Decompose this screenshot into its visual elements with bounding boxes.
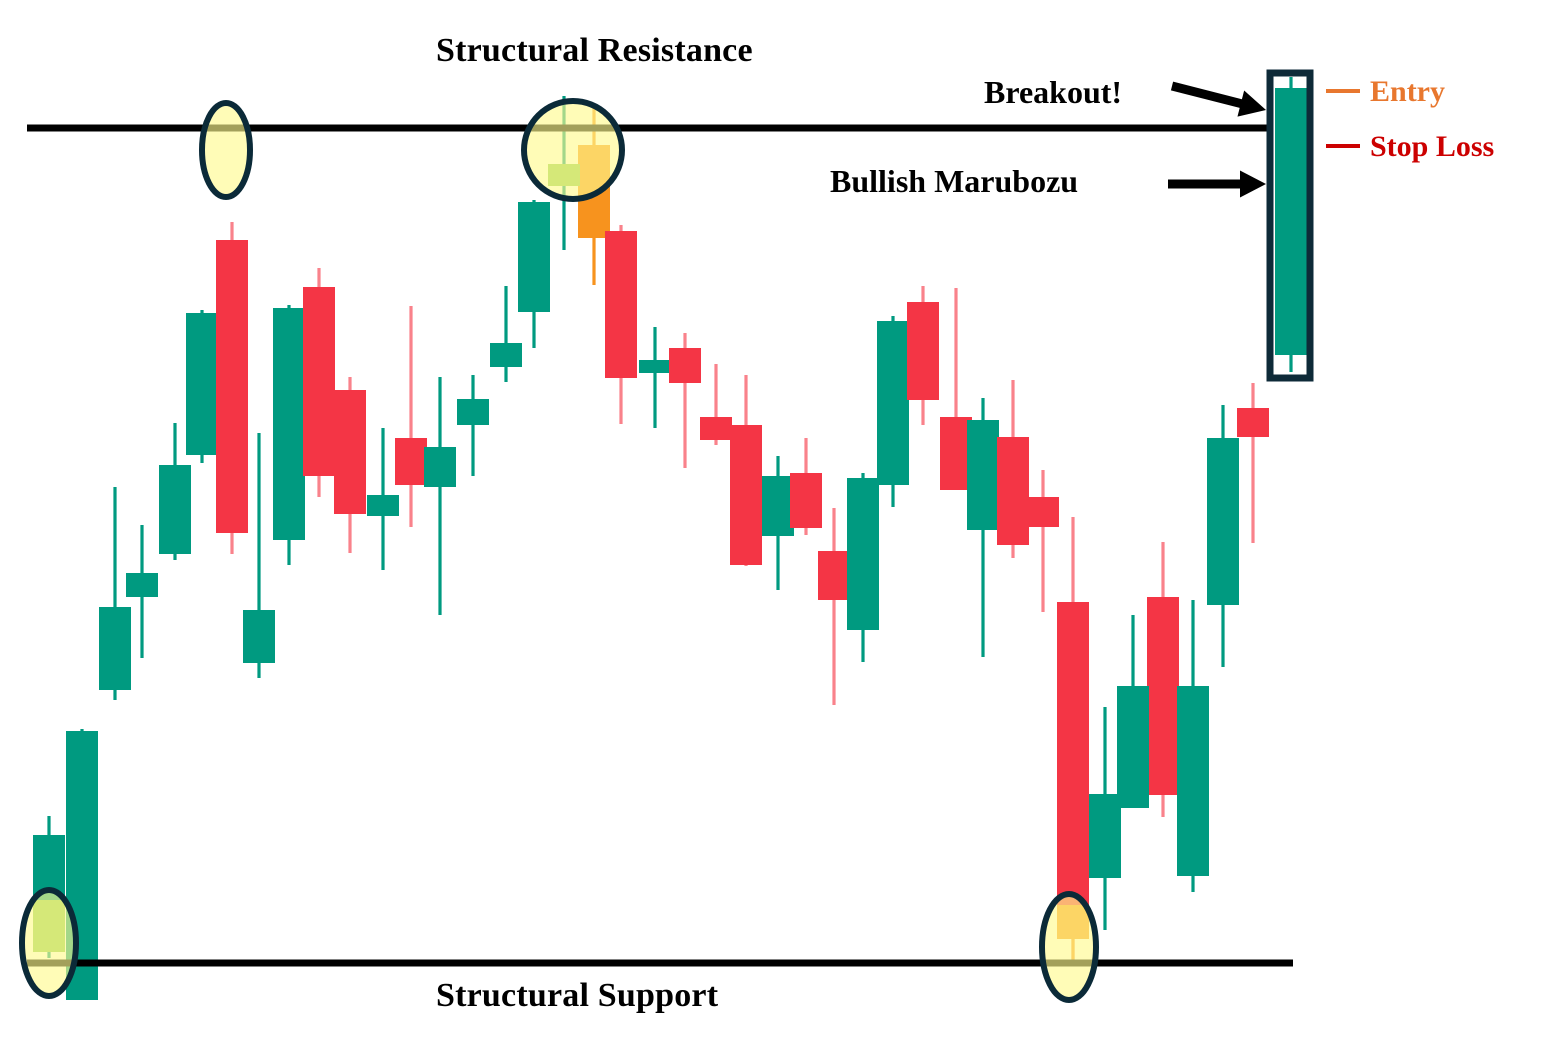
candle [847, 473, 879, 662]
candle [1275, 77, 1307, 372]
structural-resistance-title: Structural Resistance [436, 32, 753, 70]
legend-stop-loss-label: Stop Loss [1370, 130, 1494, 163]
structural-support-line [27, 960, 1293, 967]
structural-support-title: Structural Support [436, 977, 718, 1015]
legend-entry-label: Entry [1370, 75, 1445, 108]
candle [1027, 470, 1059, 612]
resistance-touch-1-highlight [202, 103, 250, 197]
candle [1089, 707, 1121, 930]
candle [367, 428, 399, 570]
legend-item-entry: Entry [1326, 75, 1445, 109]
candle [1147, 542, 1179, 817]
candle [762, 456, 794, 590]
support-touch-2-highlight [1042, 894, 1096, 1000]
candle [877, 316, 909, 507]
candle [457, 375, 489, 476]
candle [700, 364, 732, 445]
breakout-arrow-shaft [1172, 86, 1243, 104]
candle [186, 310, 218, 463]
candle [273, 305, 305, 565]
candle [490, 286, 522, 382]
candle [818, 508, 850, 705]
candle [518, 200, 550, 348]
candle [967, 398, 999, 657]
candle [605, 225, 637, 424]
candle [1177, 600, 1209, 892]
candle [216, 222, 248, 554]
support-touch-1-highlight [22, 890, 76, 996]
marubozu-arrow-head [1240, 170, 1266, 197]
breakout-arrow-head [1237, 90, 1266, 116]
candle [303, 268, 335, 497]
candles-group [33, 77, 1307, 1000]
candle [997, 380, 1029, 558]
legend-item-stop-loss: Stop Loss [1326, 130, 1494, 164]
candle [1117, 615, 1149, 808]
candle [1207, 405, 1239, 667]
entry-line-swatch-icon [1326, 89, 1360, 93]
candle [730, 375, 762, 566]
candle [790, 438, 822, 535]
candle [907, 286, 939, 425]
annotation-arrows-group [1168, 86, 1266, 198]
resistance-touch-2-highlight [524, 101, 622, 199]
candle [424, 377, 456, 615]
candle [1237, 383, 1269, 543]
candle [395, 306, 427, 527]
stop-loss-line-swatch-icon [1326, 144, 1360, 148]
bullish-marubozu-label: Bullish Marubozu [830, 163, 1078, 200]
candle [639, 327, 671, 428]
breakout-label: Breakout! [984, 74, 1122, 111]
candle [334, 377, 366, 553]
candlestick-chart-canvas: Structural Resistance Structural Support… [0, 0, 1566, 1040]
candle [669, 333, 701, 468]
